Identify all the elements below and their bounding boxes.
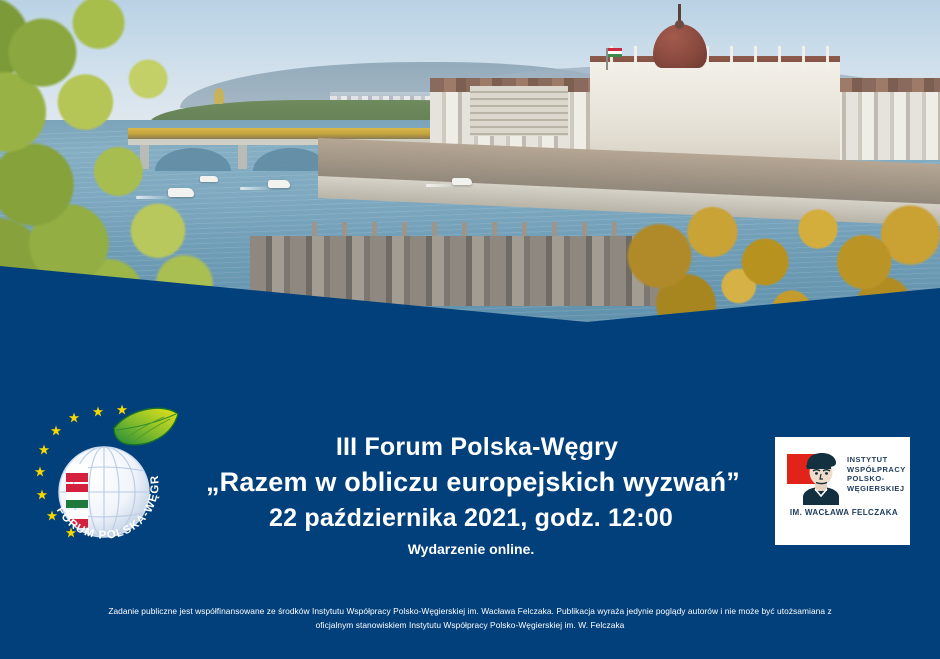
boat-wake bbox=[426, 184, 456, 187]
parliament-spires bbox=[600, 46, 830, 70]
felczak-logo-text: INSTYTUT WSPÓŁPRACY POLSKO- WĘGIERSKIEJ bbox=[847, 455, 905, 493]
parliament-spire bbox=[678, 4, 681, 28]
disclaimer-line-2: oficjalnym stanowiskiem Instytutu Współp… bbox=[0, 618, 940, 632]
foreground-rooftops bbox=[250, 236, 670, 306]
felczak-logo-subtitle: IM. WACŁAWA FELCZAKA bbox=[785, 508, 903, 517]
hungarian-flag bbox=[608, 48, 622, 57]
felczak-text-line-1: INSTYTUT bbox=[847, 455, 905, 465]
event-poster: FORUM POLSKA-WĘGRY III Forum Polska-Węgr… bbox=[0, 0, 940, 659]
hungarian-parliament-building bbox=[590, 62, 840, 162]
felczak-text-line-4: WĘGIERSKIEJ bbox=[847, 484, 905, 494]
foreground-tree-left bbox=[0, 0, 290, 310]
disclaimer-line-1: Zadanie publiczne jest współfinansowane … bbox=[0, 604, 940, 618]
felczak-text-line-3: POLSKO- bbox=[847, 474, 905, 484]
funding-disclaimer: Zadanie publiczne jest współfinansowane … bbox=[0, 604, 940, 632]
felczak-institute-logo: INSTYTUT WSPÓŁPRACY POLSKO- WĘGIERSKIEJ … bbox=[775, 437, 910, 545]
felczak-portrait-icon bbox=[801, 451, 841, 505]
felczak-text-line-2: WSPÓŁPRACY bbox=[847, 465, 905, 475]
modern-block-building bbox=[470, 86, 568, 136]
